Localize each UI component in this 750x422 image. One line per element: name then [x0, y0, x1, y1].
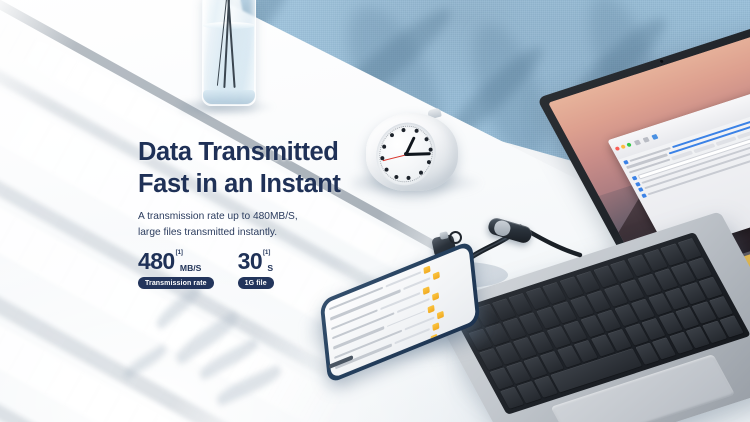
maximize-icon[interactable] — [627, 142, 633, 147]
folder-icon — [437, 341, 444, 350]
back-icon[interactable] — [634, 139, 641, 145]
close-icon[interactable] — [615, 146, 621, 151]
folder-icon — [428, 304, 435, 313]
status-badge: 1G file — [238, 277, 274, 289]
stat-value-group: 480 [1] MB/S — [138, 250, 201, 273]
checkbox[interactable] — [632, 176, 638, 181]
folder-icon — [433, 272, 440, 281]
adapter-metal-band — [493, 219, 513, 238]
settings-icon[interactable] — [652, 133, 659, 139]
checkbox[interactable] — [624, 160, 630, 165]
folder-icon — [431, 333, 438, 342]
stat-unit: MB/S — [180, 263, 201, 274]
vase-base — [203, 90, 255, 104]
checkbox[interactable] — [638, 187, 644, 192]
folder-icon — [432, 292, 439, 301]
stat-value-group: 30 [1] S — [238, 250, 273, 273]
folder-icon — [424, 265, 431, 274]
subcopy-line-2: large files transmitted instantly. — [138, 225, 398, 241]
folder-icon — [437, 311, 444, 320]
stat-number: 480 — [138, 250, 175, 273]
subtitle: A transmission rate up to 480MB/S, large… — [138, 209, 398, 240]
page-title: Data Transmitted Fast in an Instant — [138, 136, 398, 200]
forward-icon[interactable] — [643, 136, 650, 142]
checkbox[interactable] — [635, 182, 641, 187]
headline-line-1: Data Transmitted — [138, 136, 398, 168]
status-badge: Transmission rate — [138, 277, 214, 289]
copy-block: Data Transmitted Fast in an Instant A tr… — [138, 136, 398, 289]
stat-footnote-marker: [1] — [263, 250, 270, 256]
subcopy-line-1: A transmission rate up to 480MB/S, — [138, 209, 398, 225]
stat-footnote-marker: [1] — [176, 250, 183, 256]
folder-icon — [433, 322, 440, 331]
folder-icon — [423, 286, 430, 295]
cable-path-right — [528, 231, 580, 255]
stats-row: 480 [1] MB/S Transmission rate 30 [1] S … — [138, 250, 398, 289]
stat-number: 30 — [238, 250, 262, 273]
minimize-icon[interactable] — [621, 144, 627, 149]
stat-transmission-rate: 480 [1] MB/S Transmission rate — [138, 250, 214, 289]
webcam-icon — [659, 60, 663, 64]
promo-banner: Data Transmitted Fast in an Instant A tr… — [0, 0, 750, 422]
stat-file-transfer-time: 30 [1] S 1G file — [238, 250, 274, 289]
headline-line-2: Fast in an Instant — [138, 168, 398, 200]
stat-unit: S — [267, 263, 273, 274]
glass-vase — [196, 0, 262, 110]
checkbox[interactable] — [641, 193, 647, 198]
